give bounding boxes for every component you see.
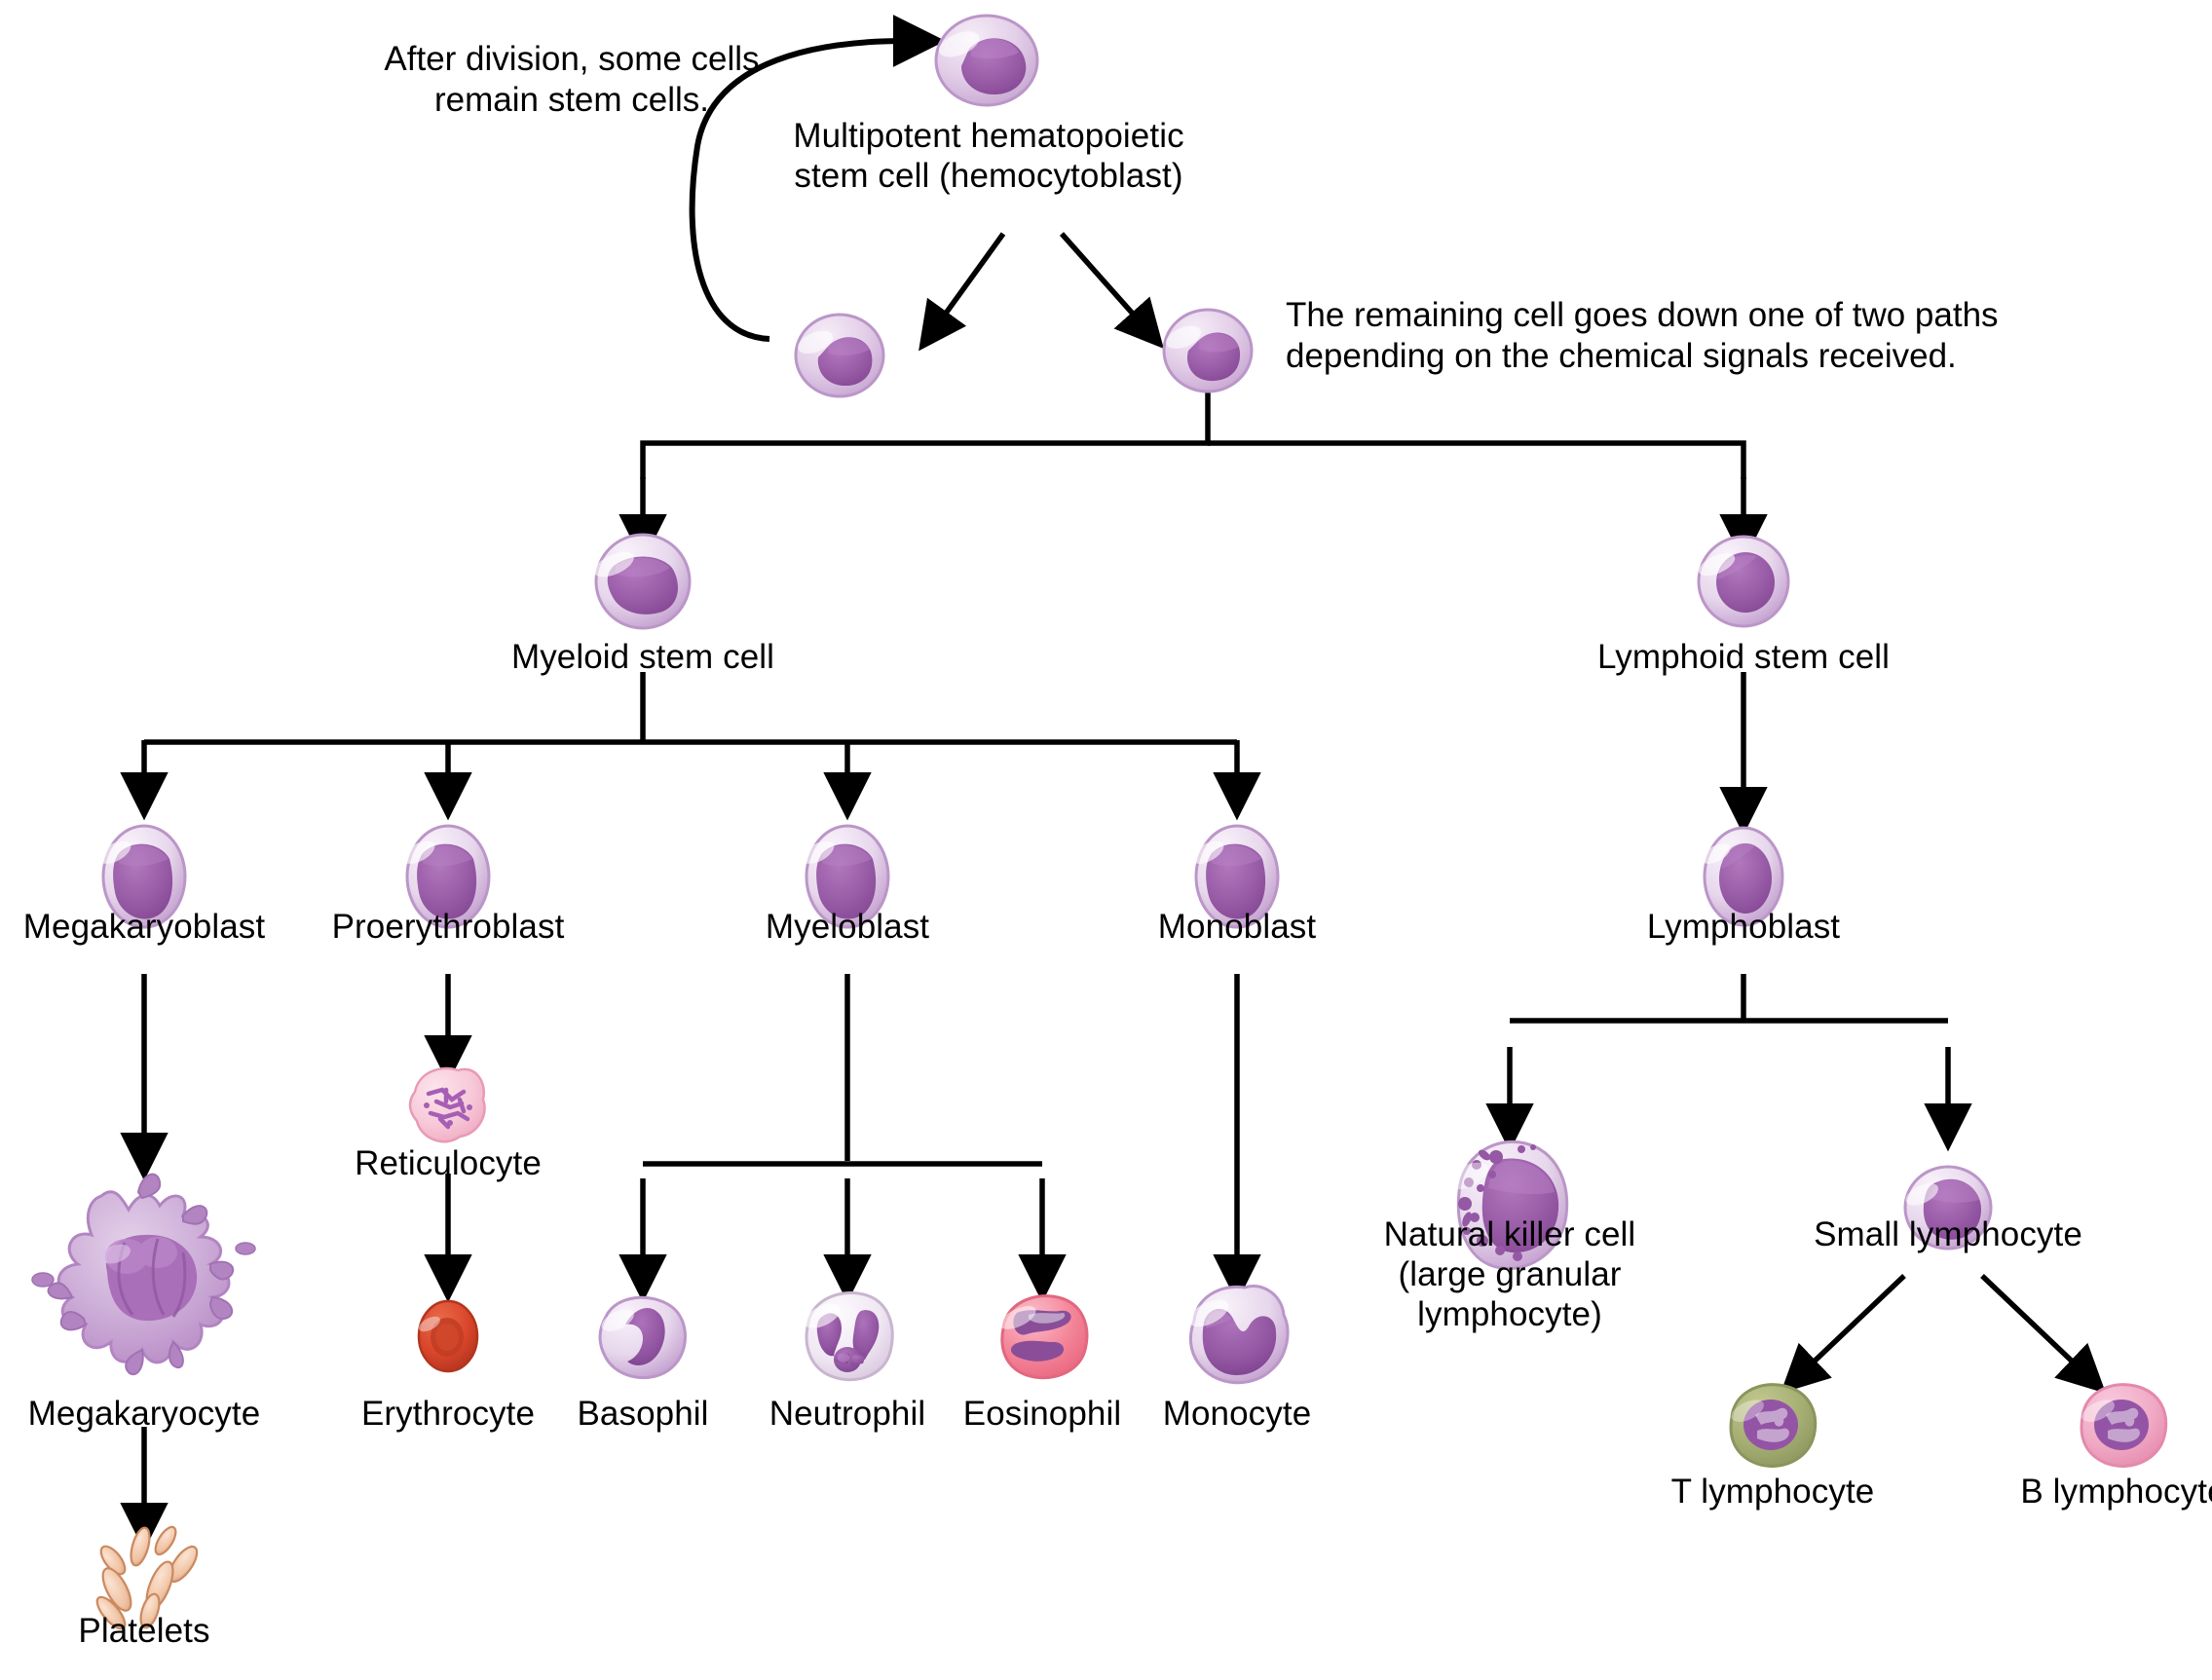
b-lymph-chromatin [2106, 1408, 2140, 1442]
cell-hemocytoblast [935, 16, 1037, 105]
connector-bus-lines [144, 385, 1948, 1164]
label-natural-killer-cell: Natural killer cell (large granular lymp… [1334, 1215, 1685, 1335]
label-proerythroblast: Proerythroblast [292, 908, 604, 948]
label-hemocytoblast: Multipotent hematopoietic stem cell (hem… [740, 117, 1237, 197]
label-eosinophil: Eosinophil [925, 1395, 1159, 1435]
label-monoblast: Monoblast [1091, 908, 1383, 948]
label-reticulocyte: Reticulocyte [302, 1144, 594, 1184]
cell-b-lymphocyte [2079, 1385, 2166, 1467]
cell-monocyte [1184, 1286, 1288, 1382]
label-megakaryoblast: Megakaryoblast [0, 908, 300, 948]
label-myeloblast: Myeloblast [701, 908, 994, 948]
label-lymphoid-stem-cell: Lymphoid stem cell [1549, 638, 1938, 678]
cell-neutrophil [801, 1293, 892, 1380]
label-lymphoblast: Lymphoblast [1597, 908, 1890, 948]
cell-daughter-left [795, 315, 883, 396]
connector-arrows [144, 41, 2080, 1514]
cell-daughter-right [1163, 310, 1252, 392]
hematopoiesis-diagram: After division, some cells remain stem c… [0, 0, 2212, 1680]
label-megakaryocyte: Megakaryocyte [0, 1395, 300, 1435]
label-basophil: Basophil [531, 1395, 755, 1435]
label-b-lymphocyte: B lymphocyte [1997, 1473, 2212, 1512]
label-myeloid-stem-cell: Myeloid stem cell [448, 638, 838, 678]
cell-basophil [598, 1297, 685, 1377]
cell-reticulocyte [410, 1068, 485, 1141]
annotation-two-paths-note: The remaining cell goes down one of two … [1286, 295, 2065, 377]
cell-erythrocyte [416, 1301, 477, 1371]
cell-t-lymphocyte [1728, 1385, 1816, 1467]
cell-myeloid-stem-cell [590, 535, 690, 628]
label-t-lymphocyte: T lymphocyte [1646, 1473, 1899, 1512]
t-lymph-chromatin [1755, 1408, 1789, 1442]
label-small-lymphocyte: Small lymphocyte [1773, 1215, 2123, 1255]
annotation-stem-cell-note: After division, some cells remain stem c… [362, 39, 781, 121]
cell-megakaryocyte [32, 1175, 255, 1374]
cell-eosinophil [996, 1296, 1087, 1378]
label-platelets: Platelets [27, 1612, 261, 1652]
label-monocyte: Monocyte [1125, 1395, 1349, 1435]
cell-lymphoid-stem-cell [1696, 537, 1788, 626]
